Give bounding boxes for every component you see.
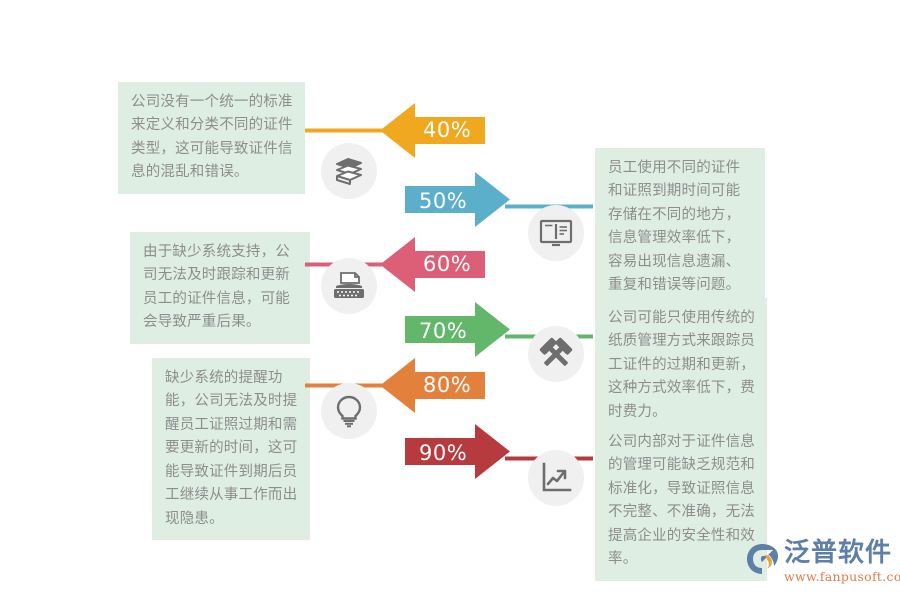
open-book-icon [538,217,574,249]
icon-circle-40 [321,143,377,199]
crossed-hammers-icon [539,337,573,371]
icon-circle-80 [321,383,377,439]
typewriter-icon [332,270,366,302]
arrow-label-70: 70% [419,319,467,343]
books-stack-icon [332,154,366,188]
logo-name: 泛普软件 [784,540,900,566]
brand-logo: 泛普软件 www.fanpusoft.com [745,540,900,584]
arrow-label-90: 90% [419,441,467,465]
infographic-canvas: 公司没有一个统一的标准来定义和分类不同的证件类型，这可能导致证件信息的混乱和错误… [0,0,900,600]
panel-text-70: 公司可能只使用传统的纸质管理方式来跟踪员工证件的过期和更新，这种方式效率低下，费… [595,298,767,433]
arrow-label-50: 50% [419,189,467,213]
panel-text-40: 公司没有一个统一的标准来定义和分类不同的证件类型，这可能导致证件信息的混乱和错误… [118,82,305,194]
arrow-label-80: 80% [423,373,471,397]
lightbulb-icon [334,394,364,428]
icon-circle-50 [528,205,584,261]
panel-text-60: 由于缺少系统支持，公司无法及时跟踪和更新员工的证件信息，可能会导致严重后果。 [130,232,310,344]
icon-circle-60 [321,258,377,314]
panel-text-80: 缺少系统的提醒功能，公司无法及时提醒员工证照过期和需要更新的时间，这可能导致证件… [152,358,310,540]
arrow-label-60: 60% [423,252,471,276]
icon-circle-70 [528,326,584,382]
panel-text-50: 员工使用不同的证件和证照到期时间可能存储在不同的地方，信息管理效率低下，容易出现… [595,148,765,307]
growth-chart-icon [540,462,572,494]
icon-circle-90 [528,450,584,506]
panel-text-90: 公司内部对于证件信息的管理可能缺乏规范和标准化，导致证照信息不完整、不准确，无法… [595,422,767,581]
logo-url: www.fanpusoft.com [784,569,900,584]
fanpu-logo-mark [745,542,779,576]
arrow-label-40: 40% [423,118,471,142]
